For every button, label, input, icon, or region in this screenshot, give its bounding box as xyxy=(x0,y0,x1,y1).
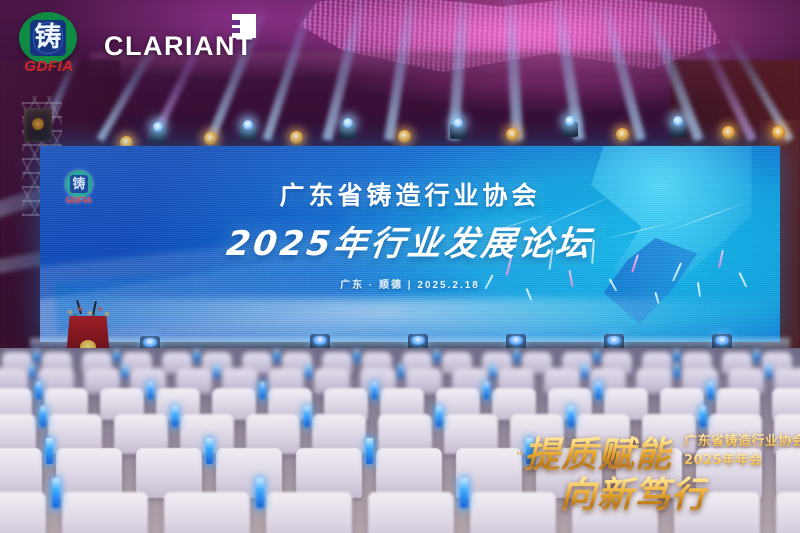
moving-head-light xyxy=(670,116,686,138)
moving-head-light xyxy=(450,118,466,140)
event-slogan-overlay: “ 提质赋能 ” 向新笃行 ” 广东省铸造行业协会 2025年年会 xyxy=(516,426,796,512)
slogan-open-quote: “ xyxy=(516,448,523,463)
screen-title-line2: 2025年行业发展论坛 xyxy=(40,216,780,265)
screen-subtitle: 广东 · 顺德 | 2025.2.18 xyxy=(40,276,780,291)
slogan-close-quote-2: ” xyxy=(702,492,705,501)
screen-title-block: 广东省铸造行业协会 2025年行业发展论坛 xyxy=(40,176,780,265)
par-can-light xyxy=(772,126,785,139)
gdfia-logo-acronym: GDFIA xyxy=(14,58,84,75)
par-can-light xyxy=(204,132,217,145)
slogan-subtext: 广东省铸造行业协会 2025年年会 xyxy=(684,432,800,470)
event-photo-scene: 铸 GDFIA 广东省铸造行业协会 2025年行业发展论坛 广东 · 顺德 | … xyxy=(0,0,800,533)
par-can-light xyxy=(616,128,629,141)
moving-head-light xyxy=(150,122,166,144)
moving-head-light xyxy=(240,120,256,142)
par-can-light xyxy=(722,126,735,139)
slogan-close-quote-1: ” xyxy=(668,452,671,461)
gdfia-logo-emblem-char: 铸 xyxy=(28,17,68,58)
par-can-light xyxy=(290,131,303,144)
led-stage-screen: 铸 GDFIA 广东省铸造行业协会 2025年行业发展论坛 广东 · 顺德 | … xyxy=(40,146,780,342)
slogan-event-name: 2025年年会 xyxy=(684,451,800,470)
par-can-light xyxy=(398,130,411,143)
stage-speaker xyxy=(24,108,52,142)
par-can-light xyxy=(506,128,519,141)
slogan-org-name: 广东省铸造行业协会 xyxy=(684,432,800,451)
clariant-logo: CLARIANT xyxy=(104,26,254,66)
gdfia-logo: 铸 GDFIA xyxy=(14,12,84,78)
screen-title-line1: 广东省铸造行业协会 xyxy=(40,176,780,212)
moving-head-light xyxy=(340,118,356,140)
moving-head-light xyxy=(562,116,578,138)
clariant-c-mark-icon xyxy=(232,14,256,38)
slogan-line2: 向新笃行 xyxy=(560,466,708,518)
